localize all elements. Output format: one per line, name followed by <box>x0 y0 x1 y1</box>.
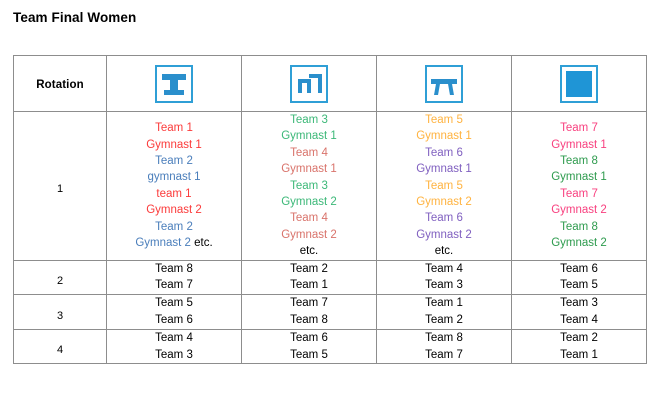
entry-label: Team 5 <box>425 180 463 192</box>
cell-content: Team 1Team 2 <box>377 295 511 329</box>
cell-content: Team 7Gymnast 1Team 8Gymnast 1Team 7Gymn… <box>512 120 646 251</box>
apparatus-header-vault <box>107 56 242 112</box>
entry-label: Team 4 <box>425 263 463 275</box>
cell-line: Team 3 <box>377 277 511 294</box>
cell-line: Gymnast 1 <box>242 161 376 177</box>
cell-line: Team 3 <box>512 295 646 312</box>
entry-label: Team 2 <box>155 155 193 167</box>
cell-line: Team 4 <box>242 210 376 226</box>
table-row: 3Team 5Team 6Team 7Team 8Team 1Team 2Tea… <box>14 295 647 330</box>
entry-label: Gymnast 2 <box>281 229 337 241</box>
cell-line: gymnast 1 <box>107 169 241 185</box>
entry-label: Team 7 <box>560 122 598 134</box>
entry-label: Team 5 <box>560 279 598 291</box>
cell-line: Team 3 <box>242 178 376 194</box>
cell-content: Team 4Team 3 <box>107 330 241 364</box>
team-order-cell: Team 8Team 7 <box>377 329 512 364</box>
rotation-number-cell: 4 <box>14 329 107 364</box>
entry-label: Team 6 <box>425 212 463 224</box>
table-row: 4Team 4Team 3Team 6Team 5Team 8Team 7Tea… <box>14 329 647 364</box>
entry-label: Team 4 <box>290 212 328 224</box>
floor-exercise-icon <box>560 65 598 103</box>
rotation-header-cell: Rotation <box>14 56 107 112</box>
team-order-cell: Team 6Team 5 <box>242 329 377 364</box>
rotation-number-cell: 1 <box>14 112 107 261</box>
entry-label: Team 3 <box>560 297 598 309</box>
table-row: 1Team 1Gymnast 1Team 2gymnast 1team 1Gym… <box>14 112 647 261</box>
entry-label: Gymnast 1 <box>416 163 472 175</box>
entry-label: Team 8 <box>290 314 328 326</box>
cell-line: Gymnast 2 <box>377 227 511 243</box>
entry-label: Gymnast 1 <box>551 139 607 151</box>
entry-label: Team 2 <box>425 314 463 326</box>
entry-label: Team 6 <box>155 314 193 326</box>
team-order-cell: Team 8Team 7 <box>107 260 242 295</box>
entry-label: Gymnast 2 <box>551 237 607 249</box>
cell-line: Gymnast 2 <box>512 235 646 251</box>
balance-beam-icon <box>425 65 463 103</box>
team-order-cell: Team 5Team 6 <box>107 295 242 330</box>
cell-line: Gymnast 2 etc. <box>107 235 241 251</box>
entry-label: Gymnast 2 <box>281 196 337 208</box>
cell-line: Team 3 <box>107 347 241 364</box>
cell-line: Team 8 <box>512 219 646 235</box>
entry-label: team 1 <box>156 188 191 200</box>
entry-label: Team 7 <box>155 279 193 291</box>
cell-line: Team 7 <box>242 295 376 312</box>
cell-line: Team 2 <box>107 219 241 235</box>
team-order-cell: Team 3Team 4 <box>512 295 647 330</box>
cell-line: Team 4 <box>107 330 241 347</box>
cell-line: Team 6 <box>512 261 646 278</box>
cell-line: Team 8 <box>512 153 646 169</box>
entry-label: Team 8 <box>560 155 598 167</box>
team-order-cell: Team 4Team 3 <box>107 329 242 364</box>
entry-label: Team 3 <box>425 279 463 291</box>
entry-label: Team 2 <box>290 263 328 275</box>
apparatus-header-balance-beam <box>377 56 512 112</box>
team-order-cell: Team 4Team 3 <box>377 260 512 295</box>
cell-line: Team 6 <box>242 330 376 347</box>
cell-line: etc. <box>242 243 376 259</box>
entry-label: Team 8 <box>425 332 463 344</box>
entry-label: Gymnast 2 <box>551 204 607 216</box>
entry-label: etc. <box>435 245 454 257</box>
cell-content: Team 1Gymnast 1Team 2gymnast 1team 1Gymn… <box>107 120 241 251</box>
rotation-number: 2 <box>14 268 106 287</box>
vault-icon <box>155 65 193 103</box>
cell-content: Team 6Team 5 <box>242 330 376 364</box>
apparatus-header-uneven-bars <box>242 56 377 112</box>
entry-label: Team 3 <box>290 180 328 192</box>
entry-label: Team 2 <box>560 332 598 344</box>
entry-label: Gymnast 1 <box>146 139 202 151</box>
cell-line: Team 5 <box>377 178 511 194</box>
team-order-cell: Team 1Team 2 <box>377 295 512 330</box>
cell-line: Team 5 <box>512 277 646 294</box>
entry-label: Team 4 <box>155 332 193 344</box>
cell-line: Team 3 <box>242 112 376 128</box>
table-body: 1Team 1Gymnast 1Team 2gymnast 1team 1Gym… <box>14 112 647 364</box>
entry-label: Gymnast 1 <box>551 171 607 183</box>
entry-label: Gymnast 1 <box>281 163 337 175</box>
entry-label: Team 3 <box>290 114 328 126</box>
lineup-cell: Team 3Gymnast 1Team 4Gymnast 1Team 3Gymn… <box>242 112 377 261</box>
cell-line: Team 6 <box>377 145 511 161</box>
table-row: 2Team 8Team 7Team 2Team 1Team 4Team 3Tea… <box>14 260 647 295</box>
rotation-number-cell: 2 <box>14 260 107 295</box>
cell-content: Team 8Team 7 <box>377 330 511 364</box>
team-order-cell: Team 7Team 8 <box>242 295 377 330</box>
entry-label: Gymnast 2 <box>146 204 202 216</box>
entry-label: Team 3 <box>155 349 193 361</box>
cell-line: Team 4 <box>242 145 376 161</box>
entry-label: Team 4 <box>290 147 328 159</box>
entry-label: Gymnast 2 <box>416 229 472 241</box>
entry-label: Gymnast 2 <box>416 196 472 208</box>
entry-label: Team 6 <box>560 263 598 275</box>
team-order-cell: Team 2Team 1 <box>512 329 647 364</box>
cell-line: etc. <box>377 243 511 259</box>
cell-line: Gymnast 1 <box>512 169 646 185</box>
cell-line: Gymnast 1 <box>107 137 241 153</box>
cell-line: Gymnast 1 <box>377 128 511 144</box>
cell-line: Gymnast 2 <box>107 202 241 218</box>
entry-label: Team 5 <box>290 349 328 361</box>
cell-line: Gymnast 1 <box>377 161 511 177</box>
cell-line: Team 7 <box>512 186 646 202</box>
cell-line: Team 8 <box>377 330 511 347</box>
cell-line: Team 1 <box>242 277 376 294</box>
rotation-number-cell: 3 <box>14 295 107 330</box>
entry-label: etc. <box>300 245 319 257</box>
entry-label: Team 1 <box>290 279 328 291</box>
cell-line: Team 2 <box>377 312 511 329</box>
cell-line: Team 1 <box>107 120 241 136</box>
entry-label: Team 7 <box>560 188 598 200</box>
lineup-cell: Team 7Gymnast 1Team 8Gymnast 1Team 7Gymn… <box>512 112 647 261</box>
cell-line: Team 2 <box>512 330 646 347</box>
cell-line: Gymnast 1 <box>512 137 646 153</box>
apparatus-header-floor-exercise <box>512 56 647 112</box>
table-head: Rotation <box>14 56 647 112</box>
rotation-table: Rotation <box>13 55 647 364</box>
rotation-number: 4 <box>14 337 106 356</box>
uneven-bars-icon <box>290 65 328 103</box>
entry-label: Team 6 <box>290 332 328 344</box>
cell-content: Team 5Team 6 <box>107 295 241 329</box>
team-order-cell: Team 2Team 1 <box>242 260 377 295</box>
entry-label: Gymnast 1 <box>281 130 337 142</box>
cell-line: Gymnast 2 <box>242 227 376 243</box>
page-root: Team Final Women Rotation <box>0 0 660 405</box>
entry-label: Team 5 <box>425 114 463 126</box>
rotation-number: 3 <box>14 303 106 322</box>
cell-line: Team 6 <box>107 312 241 329</box>
cell-line: Gymnast 1 <box>242 128 376 144</box>
entry-label: Team 1 <box>425 297 463 309</box>
entry-label: Team 2 <box>155 221 193 233</box>
entry-label: Gymnast 2 <box>135 237 191 249</box>
cell-content: Team 6Team 5 <box>512 261 646 295</box>
entry-label: Team 8 <box>155 263 193 275</box>
cell-line: Team 1 <box>512 347 646 364</box>
entry-label: Gymnast 1 <box>416 130 472 142</box>
lineup-cell: Team 5Gymnast 1Team 6Gymnast 1Team 5Gymn… <box>377 112 512 261</box>
cell-content: Team 4Team 3 <box>377 261 511 295</box>
entry-label: Team 8 <box>560 221 598 233</box>
entry-label: Team 1 <box>155 122 193 134</box>
cell-content: Team 7Team 8 <box>242 295 376 329</box>
cell-line: Gymnast 2 <box>242 194 376 210</box>
rotation-number: 1 <box>14 176 106 195</box>
cell-content: Team 3Gymnast 1Team 4Gymnast 1Team 3Gymn… <box>242 112 376 260</box>
cell-line: Team 7 <box>377 347 511 364</box>
page-title: Team Final Women <box>13 10 136 25</box>
cell-line: Team 6 <box>377 210 511 226</box>
lineup-cell: Team 1Gymnast 1Team 2gymnast 1team 1Gymn… <box>107 112 242 261</box>
cell-content: Team 2Team 1 <box>512 330 646 364</box>
team-order-cell: Team 6Team 5 <box>512 260 647 295</box>
cell-line: Team 8 <box>242 312 376 329</box>
cell-content: Team 5Gymnast 1Team 6Gymnast 1Team 5Gymn… <box>377 112 511 260</box>
cell-line: team 1 <box>107 186 241 202</box>
cell-line: Gymnast 2 <box>512 202 646 218</box>
cell-line: Team 5 <box>377 112 511 128</box>
cell-line: Team 4 <box>512 312 646 329</box>
cell-content: Team 8Team 7 <box>107 261 241 295</box>
entry-label: Team 7 <box>425 349 463 361</box>
cell-content: Team 2Team 1 <box>242 261 376 295</box>
cell-line: Team 4 <box>377 261 511 278</box>
cell-line: Team 1 <box>377 295 511 312</box>
cell-line: Team 7 <box>512 120 646 136</box>
entry-label: Team 7 <box>290 297 328 309</box>
rotation-header-label: Rotation <box>36 79 83 91</box>
entry-label: gymnast 1 <box>147 171 200 183</box>
entry-suffix: etc. <box>191 237 213 249</box>
cell-line: Team 8 <box>107 261 241 278</box>
entry-label: Team 5 <box>155 297 193 309</box>
cell-line: Gymnast 2 <box>377 194 511 210</box>
cell-line: Team 5 <box>107 295 241 312</box>
entry-label: Team 1 <box>560 349 598 361</box>
entry-label: Team 4 <box>560 314 598 326</box>
cell-line: Team 2 <box>242 261 376 278</box>
rotation-table-container: Rotation <box>13 55 647 364</box>
cell-line: Team 5 <box>242 347 376 364</box>
cell-line: Team 2 <box>107 153 241 169</box>
table-header-row: Rotation <box>14 56 647 112</box>
cell-line: Team 7 <box>107 277 241 294</box>
entry-label: Team 6 <box>425 147 463 159</box>
cell-content: Team 3Team 4 <box>512 295 646 329</box>
